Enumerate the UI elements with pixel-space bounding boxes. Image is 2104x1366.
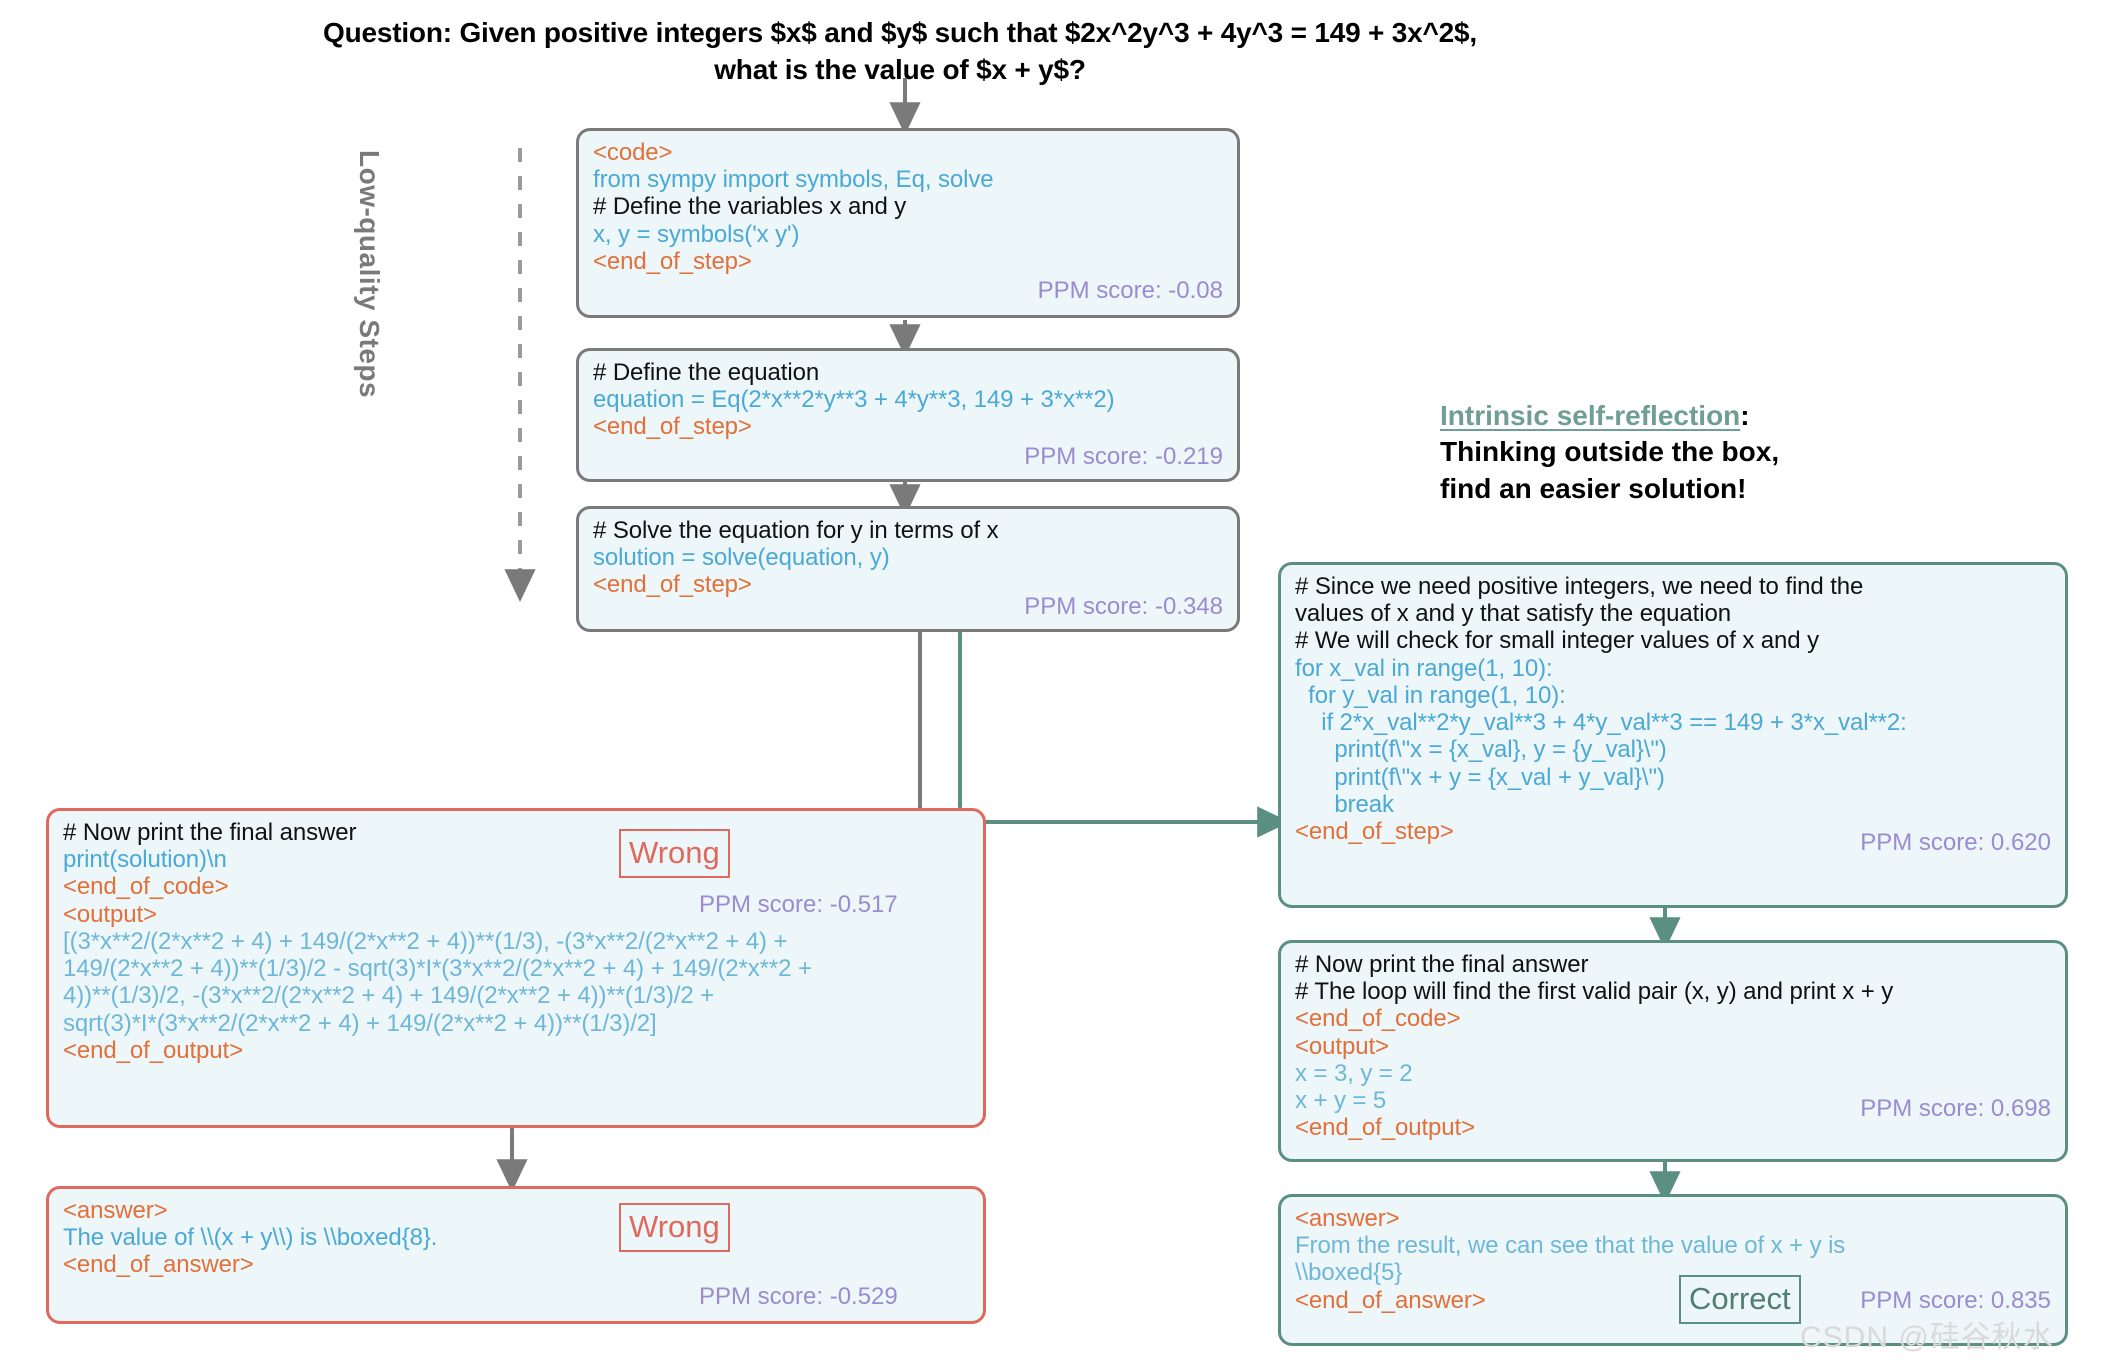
reflection-colon: : xyxy=(1740,400,1749,431)
code-line: values of x and y that satisfy the equat… xyxy=(1295,600,2051,627)
code-line: [(3*x**2/(2*x**2 + 4) + 149/(2*x**2 + 4)… xyxy=(63,928,969,955)
ppm-score: PPM score: -0.529 xyxy=(699,1283,898,1311)
code-line: # Since we need positive integers, we ne… xyxy=(1295,573,2051,600)
code-line: <end_of_code> xyxy=(1295,1005,2051,1032)
code-line: # Define the equation xyxy=(593,359,1223,386)
verdict-badge-wrong: Wrong xyxy=(619,829,730,878)
reflection-line-1: Thinking outside the box, xyxy=(1440,434,1960,470)
ppm-score: PPM score: 0.620 xyxy=(1860,829,2051,857)
step-box-left-5[interactable]: <answer> The value of \\(x + y\\) is \\b… xyxy=(46,1186,986,1324)
code-line: print(f\"x + y = {x_val + y_val}\") xyxy=(1295,764,2051,791)
code-line: <end_of_step> xyxy=(593,248,1223,275)
code-line: <answer> xyxy=(63,1197,969,1224)
step-box-left-1[interactable]: <code> from sympy import symbols, Eq, so… xyxy=(576,128,1240,318)
code-line: # Define the variables x and y xyxy=(593,193,1223,220)
code-line: sqrt(3)*I*(3*x**2/(2*x**2 + 4) + 149/(2*… xyxy=(63,1010,969,1037)
code-line: # The loop will find the first valid pai… xyxy=(1295,978,2051,1005)
watermark: CSDN @硅谷秋水 xyxy=(1800,1312,2054,1356)
ppm-score: PPM score: -0.348 xyxy=(1024,593,1223,621)
step-box-right-2[interactable]: # Now print the final answer # The loop … xyxy=(1278,940,2068,1162)
verdict-badge-correct: Correct xyxy=(1679,1275,1801,1324)
code-line: <code> xyxy=(593,139,1223,166)
code-line: break xyxy=(1295,791,2051,818)
code-line: x = 3, y = 2 xyxy=(1295,1060,2051,1087)
verdict-badge-wrong: Wrong xyxy=(619,1203,730,1252)
self-reflection-callout: Intrinsic self-reflection: Thinking outs… xyxy=(1440,398,1960,507)
ppm-score: PPM score: 0.698 xyxy=(1860,1095,2051,1123)
code-line: print(f\"x = {x_val}, y = {y_val}\") xyxy=(1295,736,2051,763)
ppm-score: PPM score: -0.517 xyxy=(699,891,898,919)
code-line: print(solution)\n xyxy=(63,846,969,873)
code-line: # Now print the final answer xyxy=(1295,951,2051,978)
code-line: x, y = symbols('x y') xyxy=(593,221,1223,248)
ppm-score: PPM score: -0.08 xyxy=(1038,277,1223,305)
code-line: for x_val in range(1, 10): xyxy=(1295,655,2051,682)
code-line: # Solve the equation for y in terms of x xyxy=(593,517,1223,544)
question-line-2: what is the value of $x + y$? xyxy=(190,51,1610,88)
question-line-1: Question: Given positive integers $x$ an… xyxy=(190,14,1610,51)
code-line: solution = solve(equation, y) xyxy=(593,544,1223,571)
ppm-score: PPM score: -0.219 xyxy=(1024,443,1223,471)
code-line: The value of \\(x + y\\) is \\boxed{8}. xyxy=(63,1224,969,1251)
low-quality-steps-label: Low-quality Steps xyxy=(345,150,385,450)
code-line: for y_val in range(1, 10): xyxy=(1295,682,2051,709)
code-line: <answer> xyxy=(1295,1205,2051,1232)
step-box-left-2[interactable]: # Define the equation equation = Eq(2*x*… xyxy=(576,348,1240,482)
diagram-canvas: Question: Given positive integers $x$ an… xyxy=(0,0,2104,1366)
code-line: equation = Eq(2*x**2*y**3 + 4*y**3, 149 … xyxy=(593,386,1223,413)
reflection-line-2: find an easier solution! xyxy=(1440,471,1960,507)
code-line: from sympy import symbols, Eq, solve xyxy=(593,166,1223,193)
step-box-right-1[interactable]: # Since we need positive integers, we ne… xyxy=(1278,562,2068,908)
code-line: 4))**(1/3)/2, -(3*x**2/(2*x**2 + 4) + 14… xyxy=(63,982,969,1009)
code-line: # Now print the final answer xyxy=(63,819,969,846)
step-box-left-3[interactable]: # Solve the equation for y in terms of x… xyxy=(576,506,1240,632)
code-line: From the result, we can see that the val… xyxy=(1295,1232,2051,1259)
reflection-heading: Intrinsic self-reflection: xyxy=(1440,398,1960,434)
step-box-left-4[interactable]: # Now print the final answer print(solut… xyxy=(46,808,986,1128)
code-line: # We will check for small integer values… xyxy=(1295,627,2051,654)
code-line: <end_of_output> xyxy=(63,1037,969,1064)
reflection-title: Intrinsic self-reflection xyxy=(1440,400,1740,431)
code-line: <end_of_step> xyxy=(593,413,1223,440)
page-title: Question: Given positive integers $x$ an… xyxy=(190,14,1610,88)
ppm-score: PPM score: 0.835 xyxy=(1860,1287,2051,1315)
code-line: 149/(2*x**2 + 4))**(1/3)/2 - sqrt(3)*I*(… xyxy=(63,955,969,982)
code-line: <output> xyxy=(1295,1033,2051,1060)
code-line: <end_of_answer> xyxy=(63,1251,969,1278)
code-line: if 2*x_val**2*y_val**3 + 4*y_val**3 == 1… xyxy=(1295,709,2051,736)
code-line: \\boxed{5} xyxy=(1295,1259,2051,1286)
